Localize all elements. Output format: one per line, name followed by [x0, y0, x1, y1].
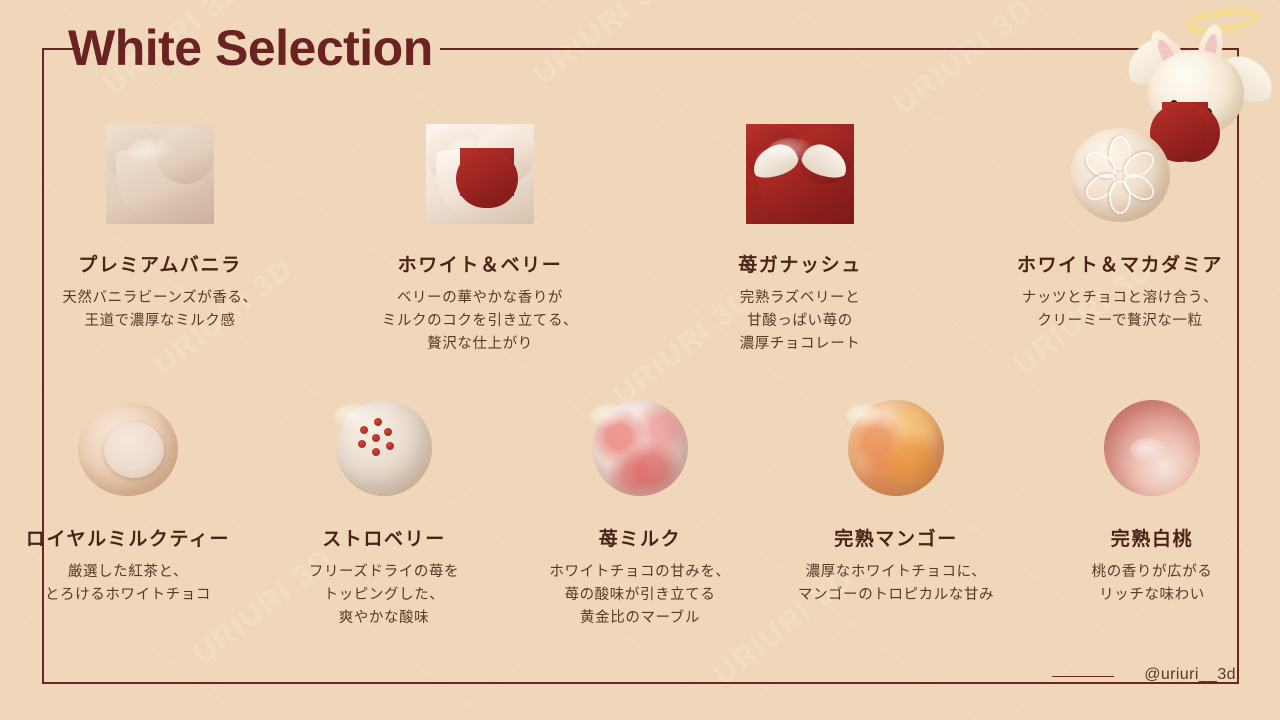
product-row-1: プレミアムバニラ 天然バニラビーンズが香る、 王道で濃厚なミルク感 ホワ: [0, 118, 1280, 356]
frame-border-top-right: [440, 48, 1238, 50]
chocolate-art-tea-disc: [58, 392, 198, 510]
chocolate-art-berry-dot-sphere: [314, 392, 454, 510]
product-name: 苺ミルク: [599, 524, 681, 551]
handle-rule: [1052, 676, 1114, 677]
chocolate-art-white-heart-red-inset: [410, 118, 550, 236]
chocolate-art-red-heart-with-wings: [730, 118, 870, 236]
product-card-white-and-macadamia[interactable]: ホワイト＆マカダミア ナッツとチョコと溶け合う、 クリーミーで贅沢な一粒: [960, 118, 1280, 356]
slide-canvas: URIURI 3D URIURI 3D URIURI 3D URIURI 3D …: [0, 0, 1280, 720]
product-card-royal-milk-tea[interactable]: ロイヤルミルクティー 厳選した紅茶と、 とろけるホワイトチョコ: [0, 392, 256, 630]
product-description: 厳選した紅茶と、 とろけるホワイトチョコ: [45, 561, 211, 607]
product-name: プレミアムバニラ: [78, 250, 241, 277]
product-card-white-and-berry[interactable]: ホワイト＆ベリー ベリーの華やかな香りが ミルクのコクを引き立てる、 贅沢な仕上…: [320, 118, 640, 356]
product-card-ripe-white-peach[interactable]: 完熟白桃 桃の香りが広がる リッチな味わい: [1024, 392, 1280, 630]
product-name: ストロベリー: [322, 524, 446, 551]
product-description: 完熟ラズベリーと 甘酸っぱい苺の 濃厚チョコレート: [740, 287, 861, 356]
product-name: 苺ガナッシュ: [738, 250, 862, 277]
chocolate-art-marble-sphere: [570, 392, 710, 510]
page-title: White Selection: [68, 16, 433, 80]
mascot-halo-icon: [1185, 5, 1259, 37]
product-description: ホワイトチョコの甘みを、 苺の酸味が引き立てる 黄金比のマーブル: [549, 561, 730, 630]
chocolate-art-mango-sphere: [826, 392, 966, 510]
product-name: 完熟白桃: [1111, 524, 1193, 551]
product-description: 桃の香りが広がる リッチな味わい: [1092, 561, 1213, 607]
product-description: ベリーの華やかな香りが ミルクのコクを引き立てる、 贅沢な仕上がり: [382, 287, 578, 356]
product-card-strawberry-milk[interactable]: 苺ミルク ホワイトチョコの甘みを、 苺の酸味が引き立てる 黄金比のマーブル: [512, 392, 768, 630]
author-handle: @uriuri__3d: [1144, 666, 1236, 684]
product-description: フリーズドライの苺を トッピングした、 爽やかな酸味: [309, 561, 459, 630]
product-card-strawberry-ganache[interactable]: 苺ガナッシュ 完熟ラズベリーと 甘酸っぱい苺の 濃厚チョコレート: [640, 118, 960, 356]
product-name: ホワイト＆ベリー: [398, 250, 563, 277]
product-description: ナッツとチョコと溶け合う、 クリーミーで贅沢な一粒: [1022, 287, 1218, 333]
chocolate-art-flower-disc: [1050, 118, 1190, 236]
product-description: 天然バニラビーンズが香る、 王道で濃厚なミルク感: [62, 287, 257, 333]
product-name: ロイヤルミルクティー: [26, 524, 230, 551]
inset-red-heart-icon: [460, 148, 514, 196]
product-name: ホワイト＆マカダミア: [1017, 250, 1223, 277]
chocolate-art-cream-heart: [90, 118, 230, 236]
product-card-strawberry[interactable]: ストロベリー フリーズドライの苺を トッピングした、 爽やかな酸味: [256, 392, 512, 630]
product-card-premium-vanilla[interactable]: プレミアムバニラ 天然バニラビーンズが香る、 王道で濃厚なミルク感: [0, 118, 320, 356]
frame-border-bottom: [42, 682, 1238, 684]
product-name: 完熟マンゴー: [834, 524, 958, 551]
chocolate-art-peach-sphere: [1082, 392, 1222, 510]
product-row-2: ロイヤルミルクティー 厳選した紅茶と、 とろけるホワイトチョコ ストロベリー フ…: [0, 392, 1280, 630]
product-card-ripe-mango[interactable]: 完熟マンゴー 濃厚なホワイトチョコに、 マンゴーのトロピカルな甘み: [768, 392, 1024, 630]
product-description: 濃厚なホワイトチョコに、 マンゴーのトロピカルな甘み: [798, 561, 994, 607]
